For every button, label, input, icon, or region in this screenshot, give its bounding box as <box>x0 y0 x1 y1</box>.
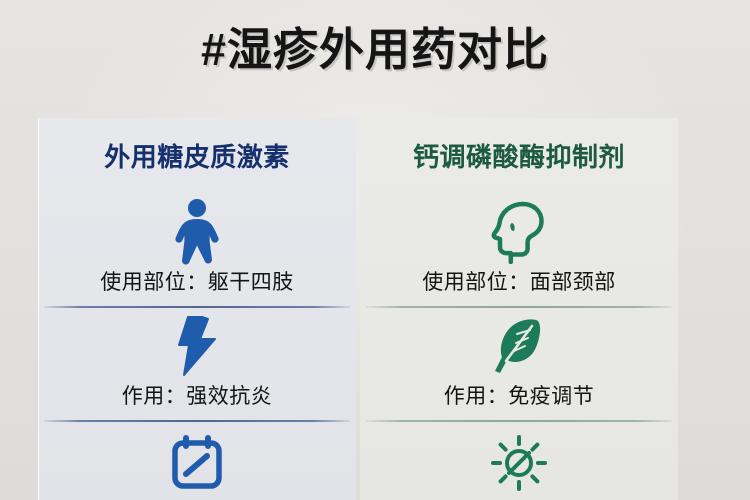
comparison-column-calcineurin: 钙调磷酸酶抑制剂 使用部位：面部颈部 作用：免疫调节 <box>360 118 678 500</box>
comparison-row-effect-right: 作用：免疫调节 <box>360 306 678 420</box>
calendar-slash-icon <box>169 434 225 490</box>
row-label-usage-site-left: 使用部位：躯干四肢 <box>100 266 294 296</box>
row-label-effect-left: 作用：强效抗炎 <box>122 380 273 410</box>
comparison-column-corticosteroids: 外用糖皮质激素 使用部位：躯干四肢 作用：强效抗炎 <box>38 118 356 500</box>
person-body-icon <box>171 196 223 268</box>
comparison-row-sun-right <box>360 420 678 488</box>
feather-icon <box>490 310 548 382</box>
row-label-effect-right: 作用：免疫调节 <box>444 380 595 410</box>
head-profile-icon <box>490 196 548 268</box>
page-title: #湿疹外用药对比 <box>201 26 549 75</box>
lightning-bolt-icon <box>175 310 219 382</box>
comparison-row-duration-left <box>38 420 356 488</box>
comparison-row-effect-left: 作用：强效抗炎 <box>38 306 356 420</box>
column-header-calcineurin: 钙调磷酸酶抑制剂 <box>360 118 678 192</box>
comparison-row-usage-site-left: 使用部位：躯干四肢 <box>38 192 356 306</box>
comparison-row-usage-site-right: 使用部位：面部颈部 <box>360 192 678 306</box>
row-label-usage-site-right: 使用部位：面部颈部 <box>422 266 616 296</box>
comparison-table: 外用糖皮质激素 使用部位：躯干四肢 作用：强效抗炎 <box>38 118 694 500</box>
column-header-corticosteroids: 外用糖皮质激素 <box>38 118 356 192</box>
sun-slash-icon <box>490 434 548 492</box>
page-title-container: #湿疹外用药对比 <box>0 26 750 75</box>
